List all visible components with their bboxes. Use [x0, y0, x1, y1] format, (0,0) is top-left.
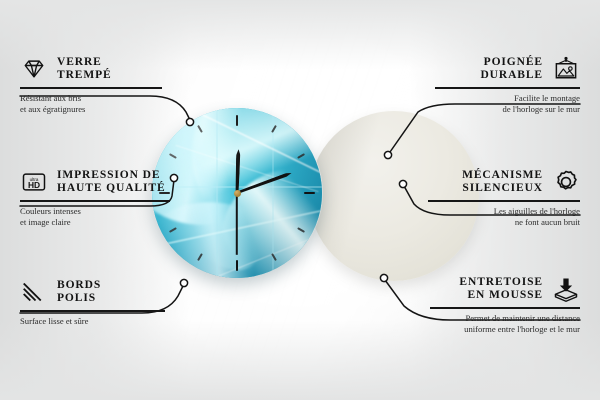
feature-verre-desc-2: et aux égratignures	[20, 104, 162, 115]
feature-impression-hd[interactable]: ultra HD IMPRESSION DE HAUTE QUALITÉ Cou…	[20, 168, 170, 228]
feature-bords-rule	[20, 310, 165, 312]
feature-verre-desc-1: Résistant aux bris	[20, 93, 162, 104]
ultra-hd-icon-big-text: HD	[28, 180, 40, 190]
feature-poignee-desc-1: Facilite le montage	[435, 93, 580, 104]
feature-entretoise-rule	[430, 307, 580, 309]
feature-hd-title: IMPRESSION DE HAUTE QUALITÉ	[57, 169, 166, 196]
feature-bords-header: BORDS POLIS	[20, 278, 165, 306]
feature-verre-header: VERRE TREMPÉ	[20, 55, 162, 83]
feature-mecanisme-rule	[428, 200, 580, 202]
feature-poignee-rule	[435, 87, 580, 89]
feature-bords-desc-1: Surface lisse et sûre	[20, 316, 165, 327]
feature-entretoise-title-1: ENTRETOISE	[459, 276, 543, 290]
callout-dot-hd	[170, 174, 177, 181]
callout-dot-mecanisme	[399, 180, 406, 187]
feature-mecanisme-title-2: SILENCIEUX	[462, 182, 543, 196]
feature-bords-title-1: BORDS	[57, 279, 101, 293]
callout-dot-bords	[180, 279, 187, 286]
callout-dot-verre	[186, 118, 193, 125]
feature-hd-rule	[20, 200, 170, 202]
feature-verre-title-1: VERRE	[57, 56, 112, 70]
feature-hd-desc-1: Couleurs intenses	[20, 206, 170, 217]
feature-poignee-title-2: DURABLE	[480, 69, 543, 83]
callout-dot-poignee	[384, 151, 391, 158]
feature-poignee-durable[interactable]: POIGNÉE DURABLE Facilite le montage de l…	[435, 55, 580, 115]
feature-hd-title-1: IMPRESSION DE	[57, 169, 166, 183]
polished-edges-icon	[20, 278, 48, 306]
feature-mecanisme-header: MÉCANISME SILENCIEUX	[428, 168, 580, 196]
feature-poignee-title-1: POIGNÉE	[480, 56, 543, 70]
foam-spacer-arrow-icon	[552, 275, 580, 303]
callout-dot-entretoise	[380, 274, 387, 281]
feature-bords-polis[interactable]: BORDS POLIS Surface lisse et sûre	[20, 278, 165, 327]
feature-entretoise-desc-2: uniforme entre l'horloge et le mur	[430, 324, 580, 335]
feature-hd-header: ultra HD IMPRESSION DE HAUTE QUALITÉ	[20, 168, 170, 196]
feature-bords-title-2: POLIS	[57, 292, 101, 306]
feature-verre-title: VERRE TREMPÉ	[57, 56, 112, 83]
feature-entretoise-desc-1: Permet de maintenir une distance	[430, 313, 580, 324]
gear-icon	[552, 168, 580, 196]
picture-frame-hanger-icon	[552, 55, 580, 83]
feature-mecanisme-title: MÉCANISME SILENCIEUX	[462, 169, 543, 196]
diamond-icon	[20, 55, 48, 83]
feature-entretoise-header: ENTRETOISE EN MOUSSE	[430, 275, 580, 303]
feature-mecanisme-silencieux[interactable]: MÉCANISME SILENCIEUX Les aiguilles de l'…	[428, 168, 580, 228]
infographic-canvas: VERRE TREMPÉ Résistant aux bris et aux é…	[0, 0, 600, 400]
feature-verre-rule	[20, 87, 162, 89]
feature-entretoise-title-2: EN MOUSSE	[459, 289, 543, 303]
feature-poignee-desc-2: de l'horloge sur le mur	[435, 104, 580, 115]
feature-poignee-title: POIGNÉE DURABLE	[480, 56, 543, 83]
feature-hd-title-2: HAUTE QUALITÉ	[57, 182, 166, 196]
feature-mecanisme-title-1: MÉCANISME	[462, 169, 543, 183]
feature-poignee-header: POIGNÉE DURABLE	[435, 55, 580, 83]
feature-entretoise-title: ENTRETOISE EN MOUSSE	[459, 276, 543, 303]
feature-hd-desc-2: et image claire	[20, 217, 170, 228]
feature-verre-trempe[interactable]: VERRE TREMPÉ Résistant aux bris et aux é…	[20, 55, 162, 115]
feature-mecanisme-desc-1: Les aiguilles de l'horloge	[428, 206, 580, 217]
feature-entretoise-mousse[interactable]: ENTRETOISE EN MOUSSE Permet de maintenir…	[430, 275, 580, 335]
ultra-hd-icon: ultra HD	[20, 168, 48, 196]
feature-verre-title-2: TREMPÉ	[57, 69, 112, 83]
feature-bords-title: BORDS POLIS	[57, 279, 101, 306]
feature-mecanisme-desc-2: ne font aucun bruit	[428, 217, 580, 228]
